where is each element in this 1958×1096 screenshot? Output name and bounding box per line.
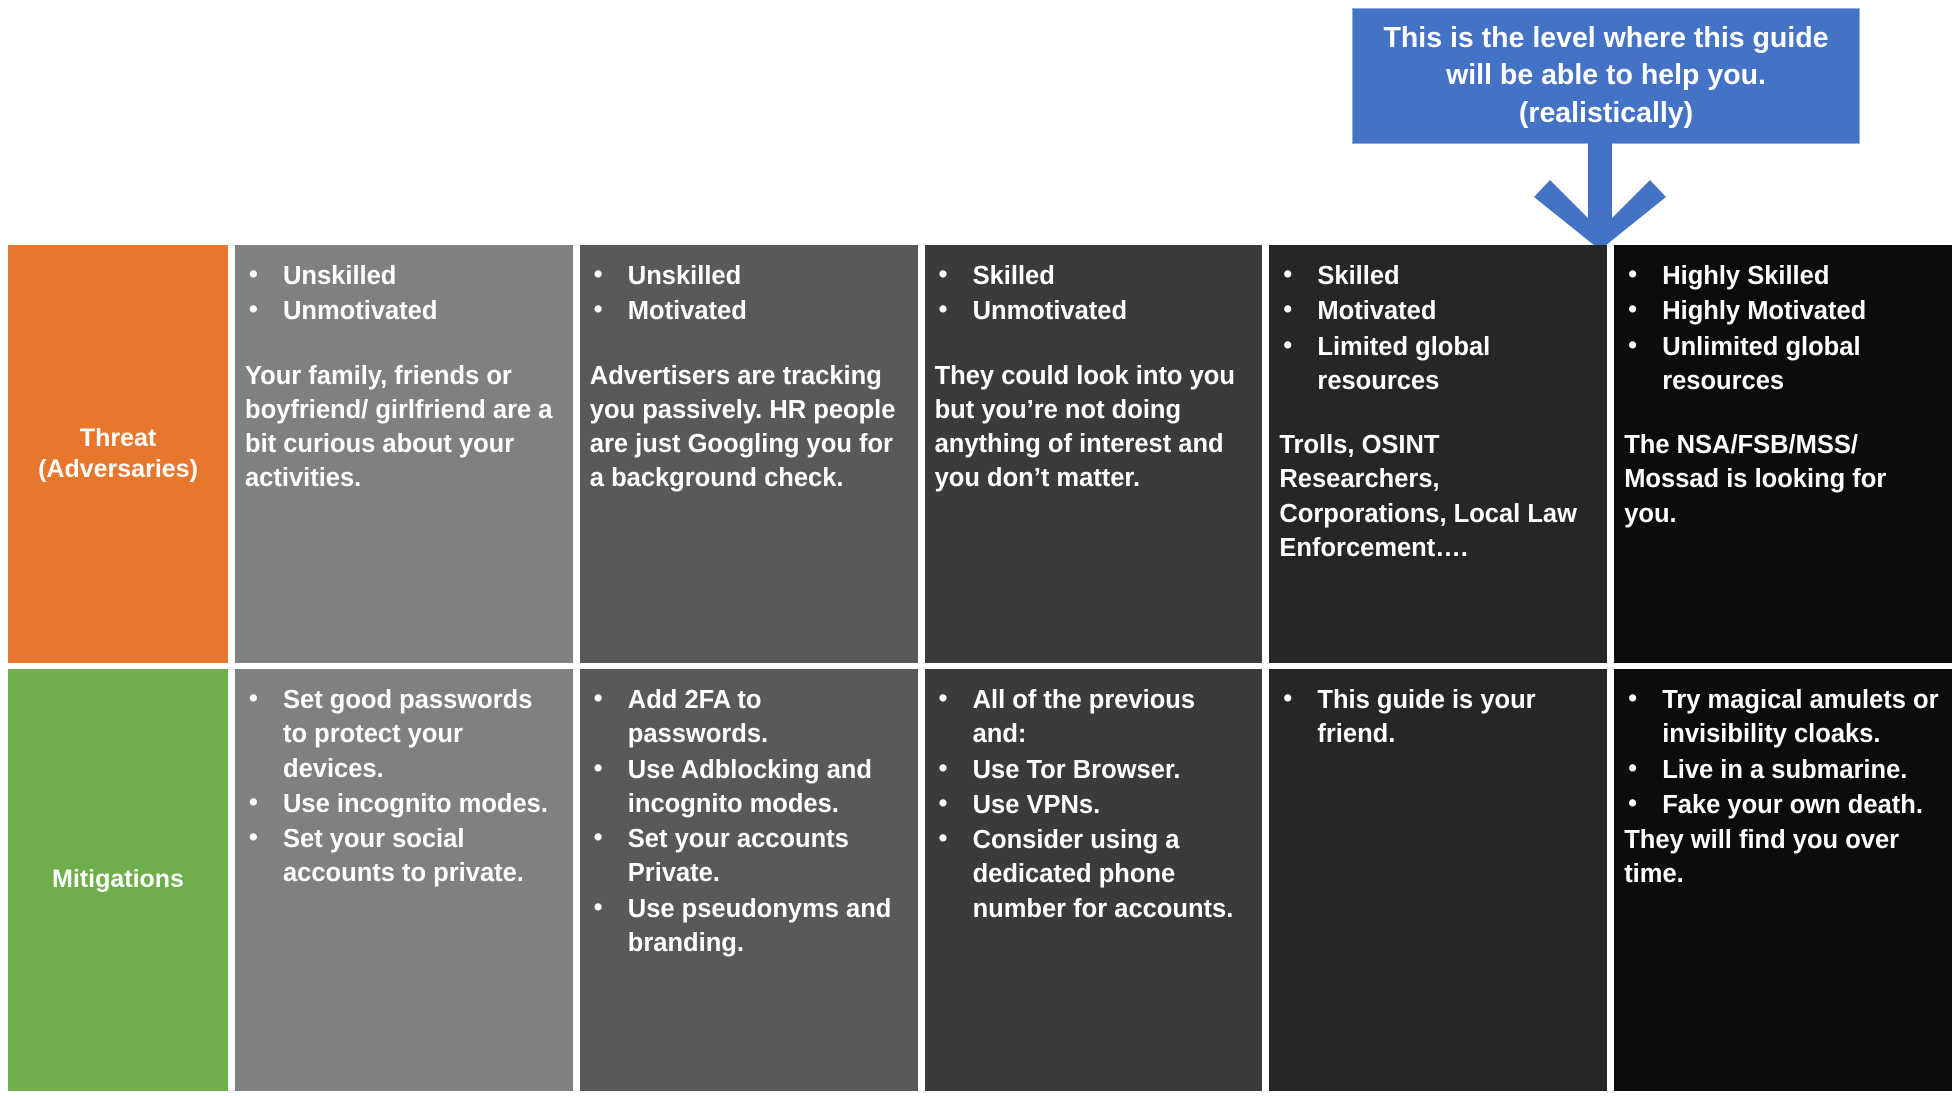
threat-bullets-4: Skilled Motivated Limited global resourc… [1279, 259, 1595, 398]
row-label-mitigations-line-1: Mitigations [52, 864, 184, 895]
callout-line-3: (realistically) [1519, 95, 1693, 132]
mitigation-cell-3: All of the previous and: Use Tor Browser… [925, 669, 1263, 1091]
list-item: Use incognito modes. [245, 787, 561, 821]
threat-paragraph-1: Your family, friends or boyfriend/ girlf… [245, 359, 561, 496]
threat-cell-5: Highly Skilled Highly Motivated Unlimite… [1614, 245, 1952, 663]
list-item: Unmotivated [245, 294, 561, 328]
threat-bullets-5: Highly Skilled Highly Motivated Unlimite… [1624, 259, 1940, 398]
list-item: Try magical amulets or invisibility cloa… [1624, 683, 1940, 752]
down-arrow-icon [1534, 140, 1666, 250]
list-item: Set your social accounts to private. [245, 822, 561, 891]
list-item: Skilled [935, 259, 1251, 293]
list-item: Use pseudonyms and branding. [590, 892, 906, 961]
callout-line-1: This is the level where this guide [1383, 20, 1828, 57]
list-item: Use VPNs. [935, 788, 1251, 822]
mitigation-bullets-4: This guide is your friend. [1279, 683, 1595, 752]
list-item: Consider using a dedicated phone number … [935, 823, 1251, 926]
mitigation-bullets-5: Try magical amulets or invisibility cloa… [1624, 683, 1940, 822]
mitigation-cell-5: Try magical amulets or invisibility cloa… [1614, 669, 1952, 1091]
threat-cell-4: Skilled Motivated Limited global resourc… [1269, 245, 1607, 663]
mitigation-cell-4: This guide is your friend. [1269, 669, 1607, 1091]
threat-cell-2: Unskilled Motivated Advertisers are trac… [580, 245, 918, 663]
list-item: Live in a submarine. [1624, 753, 1940, 787]
list-item: Unskilled [245, 259, 561, 293]
mitigation-bullets-2: Add 2FA to passwords. Use Adblocking and… [590, 683, 906, 960]
list-item: Unmotivated [935, 294, 1251, 328]
callout-line-2: will be able to help you. [1446, 57, 1766, 94]
list-item: Set good passwords to protect your devic… [245, 683, 561, 786]
list-item: Highly Motivated [1624, 294, 1940, 328]
row-label-threat: Threat (Adversaries) [8, 245, 228, 663]
list-item: Unskilled [590, 259, 906, 293]
threat-bullets-3: Skilled Unmotivated [935, 259, 1251, 329]
row-label-threat-line-2: (Adversaries) [38, 454, 198, 485]
list-item: Fake your own death. [1624, 788, 1940, 822]
threat-paragraph-3: They could look into you but you’re not … [935, 359, 1251, 496]
threat-cell-1: Unskilled Unmotivated Your family, frien… [235, 245, 573, 663]
list-item: Skilled [1279, 259, 1595, 293]
row-label-mitigations: Mitigations [8, 669, 228, 1091]
list-item: Limited global resources [1279, 330, 1595, 399]
threat-paragraph-2: Advertisers are tracking you passively. … [590, 359, 906, 496]
list-item: This guide is your friend. [1279, 683, 1595, 752]
list-item: Motivated [590, 294, 906, 328]
mitigation-cell-1: Set good passwords to protect your devic… [235, 669, 573, 1091]
threat-paragraph-5: The NSA/FSB/MSS/ Mossad is looking for y… [1624, 428, 1940, 531]
callout-text-box: This is the level where this guide will … [1352, 8, 1860, 144]
mitigation-bullets-3: All of the previous and: Use Tor Browser… [935, 683, 1251, 926]
list-item: Unlimited global resources [1624, 330, 1940, 399]
threat-bullets-1: Unskilled Unmotivated [245, 259, 561, 329]
list-item: Highly Skilled [1624, 259, 1940, 293]
mitigation-paragraph-5: They will find you over time. [1624, 823, 1940, 892]
list-item: Motivated [1279, 294, 1595, 328]
list-item: Set your accounts Private. [590, 822, 906, 891]
mitigation-bullets-1: Set good passwords to protect your devic… [245, 683, 561, 891]
list-item: All of the previous and: [935, 683, 1251, 752]
threat-model-matrix: Threat (Adversaries) Unskilled Unmotivat… [8, 245, 1952, 1085]
threat-paragraph-4: Trolls, OSINT Researchers, Corporations,… [1279, 428, 1595, 565]
row-label-threat-line-1: Threat [38, 423, 198, 454]
list-item: Add 2FA to passwords. [590, 683, 906, 752]
mitigation-cell-2: Add 2FA to passwords. Use Adblocking and… [580, 669, 918, 1091]
threat-bullets-2: Unskilled Motivated [590, 259, 906, 329]
list-item: Use Adblocking and incognito modes. [590, 753, 906, 822]
callout-annotation: This is the level where this guide will … [1352, 8, 1860, 144]
threat-cell-3: Skilled Unmotivated They could look into… [925, 245, 1263, 663]
list-item: Use Tor Browser. [935, 753, 1251, 787]
